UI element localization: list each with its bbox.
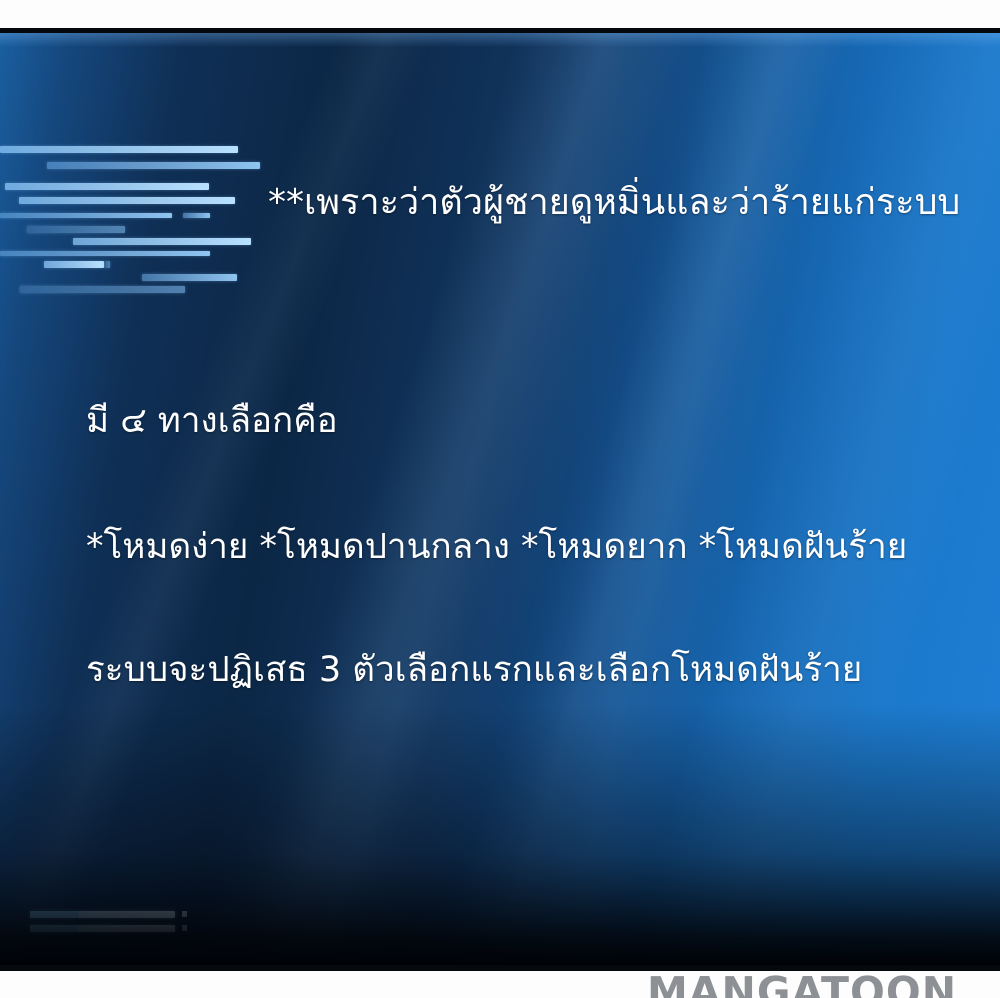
speed-bar: [30, 925, 175, 932]
speed-bar: [0, 146, 238, 153]
speed-bar: [5, 183, 209, 190]
speed-bar-dot: [182, 925, 187, 931]
speed-bar: [142, 274, 237, 281]
mangatoon-watermark: MANGATOON: [647, 968, 957, 998]
comic-page: **เพราะว่าตัวผู้ชายดูหมิ่นและว่าร้ายแก่ร…: [0, 0, 1000, 998]
speed-bar: [19, 197, 235, 204]
speed-lines-bottom-left: [30, 911, 230, 947]
page-gutter-top: [0, 0, 1000, 28]
speed-bar-dot: [182, 911, 187, 917]
panel-top-highlight: [0, 33, 1000, 47]
speed-bar: [0, 251, 210, 256]
speed-bar: [30, 911, 175, 918]
speed-bar: [183, 213, 210, 218]
light-streak-3: [588, 33, 1000, 965]
speed-bar: [20, 286, 185, 293]
speed-bar: [44, 261, 104, 268]
dialogue-line-3: ระบบจะปฏิเสธ 3 ตัวเลือกแรกและเลือกโหมดฝั…: [86, 653, 862, 688]
speed-bar: [104, 261, 110, 268]
comic-panel: **เพราะว่าตัวผู้ชายดูหมิ่นและว่าร้ายแก่ร…: [0, 33, 1000, 965]
dialogue-line-2: *โหมดง่าย *โหมดปานกลาง *โหมดยาก *โหมดฝัน…: [86, 530, 907, 565]
dialogue-heading: **เพราะว่าตัวผู้ชายดูหมิ่นและว่าร้ายแก่ร…: [268, 185, 960, 221]
speed-bar: [47, 162, 260, 169]
light-streak-2: [394, 33, 916, 965]
speed-bar: [27, 226, 125, 233]
dialogue-line-1: มี ๔ ทางเลือกคือ: [86, 404, 338, 439]
speed-bar: [0, 213, 172, 218]
speed-lines-top-left: [0, 118, 300, 283]
speed-bar: [73, 238, 251, 245]
